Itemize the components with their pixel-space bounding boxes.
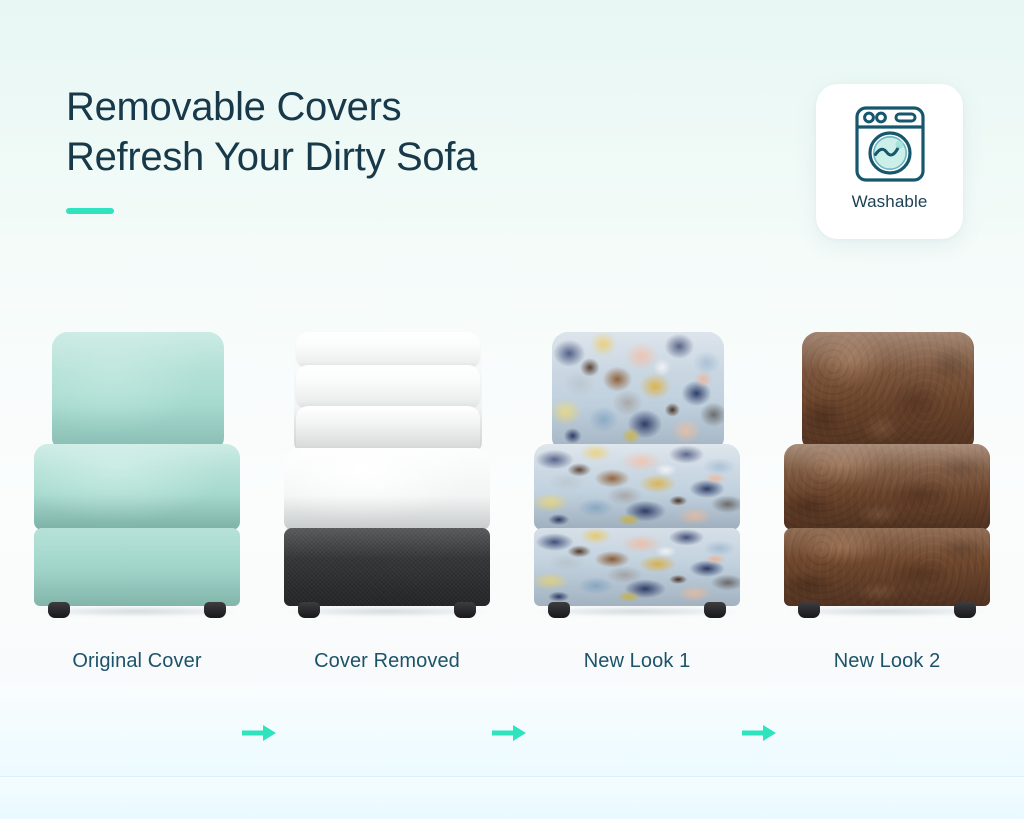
caption-cover-removed: Cover Removed — [262, 650, 512, 673]
sofa-foot-right — [704, 602, 726, 618]
sofa-foot-left — [548, 602, 570, 618]
leather-fabric — [802, 332, 974, 450]
sofa-slot-original-cover — [12, 318, 262, 618]
promo-banner: Removable Covers Refresh Your Dirty Sofa… — [0, 0, 1024, 819]
floral-fabric — [534, 444, 740, 530]
sofa-foot-right — [454, 602, 476, 618]
sofa-back-cushion — [552, 332, 724, 450]
washing-machine-icon — [848, 102, 932, 186]
accent-underline — [66, 208, 114, 214]
sofa-base — [284, 528, 490, 606]
charcoal-fabric — [284, 528, 490, 606]
sofa-new-look-1 — [530, 332, 744, 618]
arrow-right-icon — [492, 723, 526, 743]
sofa-comparison-row — [0, 318, 1024, 618]
sofa-base — [784, 528, 990, 606]
sofa-back-cushion — [802, 332, 974, 450]
headline-line-2: Refresh Your Dirty Sofa — [66, 132, 686, 182]
sofa-seat-cushion — [784, 444, 990, 530]
washable-label: Washable — [852, 192, 928, 212]
sofa-new-look-2 — [780, 332, 994, 618]
sofa-seat-cushion — [34, 444, 240, 530]
arrow-right-icon — [242, 723, 276, 743]
sofa-original-cover — [30, 332, 244, 618]
white-liner-fabric — [284, 448, 490, 530]
caption-new-look-2: New Look 2 — [762, 650, 1012, 673]
floral-fabric — [552, 332, 724, 450]
mint-fabric — [34, 444, 240, 530]
sofa-seat-cushion — [534, 444, 740, 530]
sofa-foot-right — [204, 602, 226, 618]
sofa-seat-cushion — [284, 448, 490, 530]
floor-band — [0, 777, 1024, 819]
caption-new-look-1: New Look 1 — [512, 650, 762, 673]
mint-fabric — [52, 332, 224, 450]
mint-fabric — [34, 528, 240, 606]
arrow-right-icon — [742, 723, 776, 743]
channel-1 — [296, 332, 480, 368]
sofa-back-cushion — [294, 332, 482, 454]
sofa-back-cushion — [52, 332, 224, 450]
sofa-foot-left — [798, 602, 820, 618]
sofa-foot-left — [48, 602, 70, 618]
channel-2 — [296, 365, 480, 409]
sofa-slot-cover-removed — [262, 318, 512, 618]
leather-fabric — [784, 528, 990, 606]
floral-fabric — [534, 528, 740, 606]
sofa-base — [534, 528, 740, 606]
caption-original-cover: Original Cover — [12, 650, 262, 673]
sofa-cover-removed — [280, 332, 494, 618]
channel-3 — [296, 406, 480, 454]
washable-badge: Washable — [816, 84, 963, 239]
quilted-channels — [294, 332, 482, 454]
sofa-foot-left — [298, 602, 320, 618]
headline-line-1: Removable Covers — [66, 82, 686, 132]
sofa-slot-new-look-2 — [762, 318, 1012, 618]
sofa-base — [34, 528, 240, 606]
sofa-foot-right — [954, 602, 976, 618]
page-title: Removable Covers Refresh Your Dirty Sofa — [66, 82, 686, 182]
sofa-slot-new-look-1 — [512, 318, 762, 618]
leather-fabric — [784, 444, 990, 530]
